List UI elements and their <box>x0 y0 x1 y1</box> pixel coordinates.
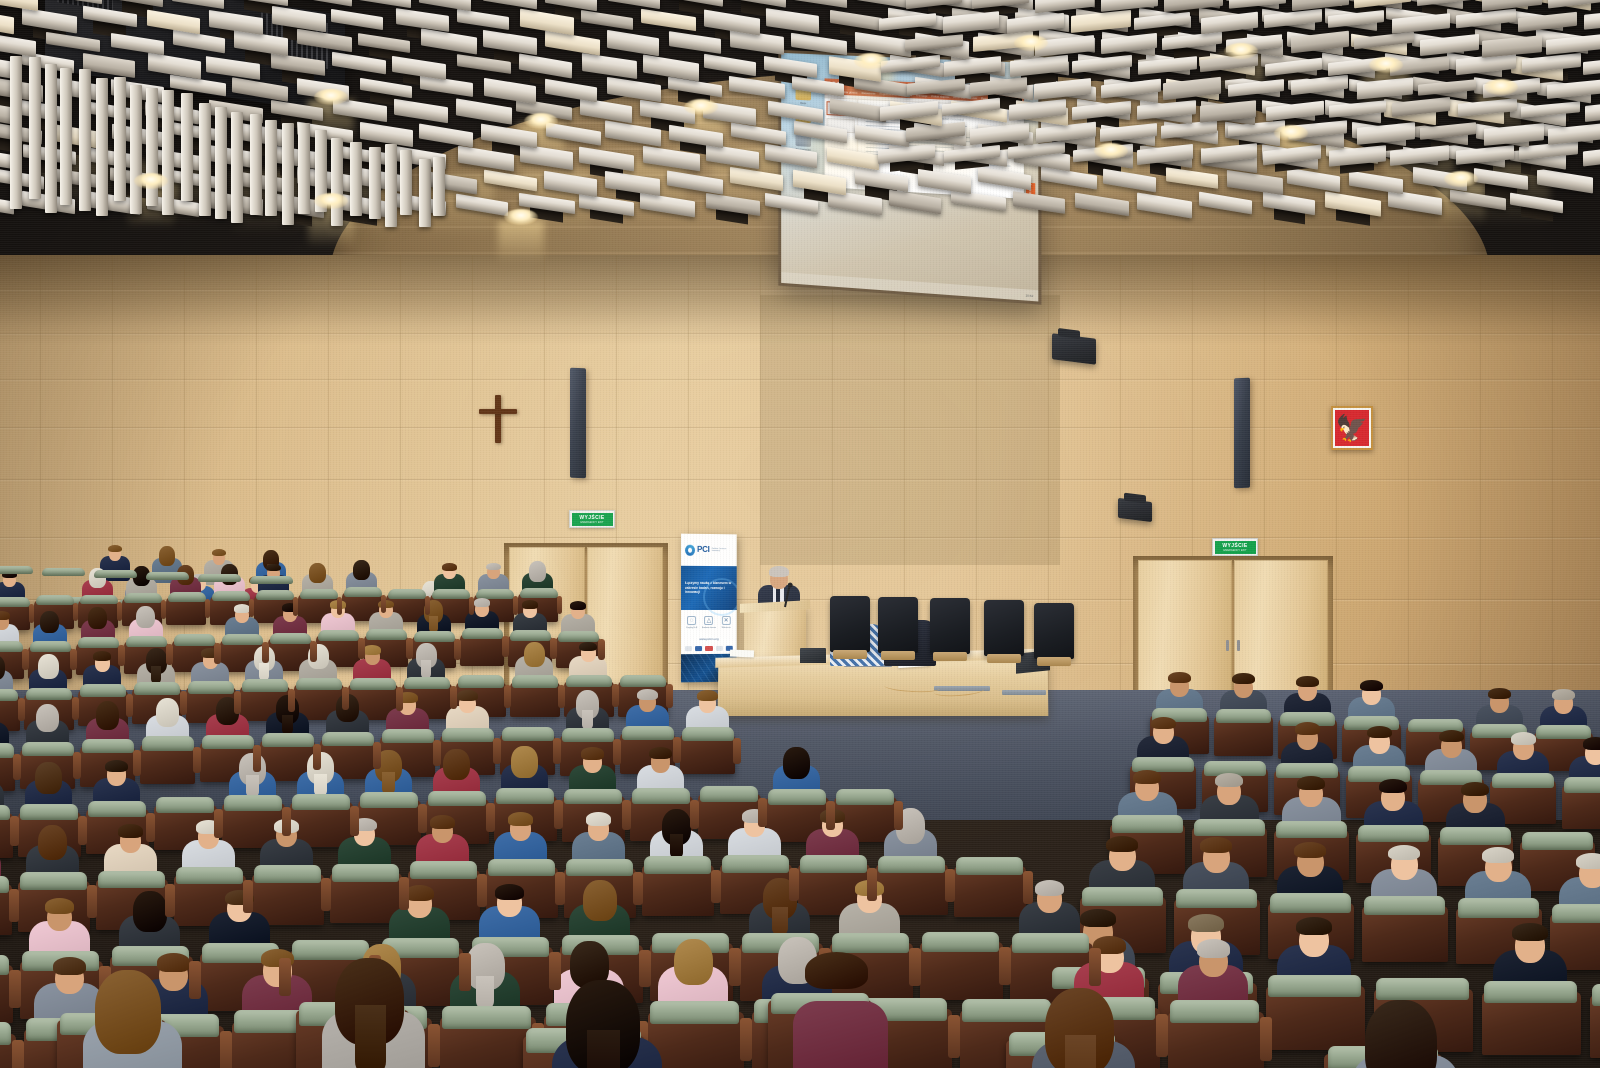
chair-cushion[interactable] <box>1270 893 1351 913</box>
audience-hair <box>442 563 457 571</box>
audience-hair-long <box>38 654 59 679</box>
audience-hair <box>1106 836 1138 852</box>
chair-cushion[interactable] <box>700 786 758 802</box>
ceiling-fin <box>231 112 243 223</box>
downlight-icon <box>1224 43 1258 59</box>
chair-cushion[interactable] <box>564 789 622 805</box>
chair-armrest <box>550 638 556 659</box>
ceiling-fin <box>162 90 174 215</box>
chair-cushion[interactable] <box>1276 821 1347 838</box>
chair-armrest <box>945 869 955 902</box>
audience-seating <box>0 560 1600 1068</box>
ceiling-fin <box>114 77 126 202</box>
downlight-icon <box>684 99 718 115</box>
chair-armrest <box>22 649 28 670</box>
audience-hair <box>570 601 586 610</box>
audience-hair <box>1297 776 1325 790</box>
chair-cushion[interactable] <box>174 634 215 645</box>
chair-cushion[interactable] <box>1358 825 1429 842</box>
crucifix-crossbar <box>479 409 517 414</box>
taskbar-clock: 10:42 <box>1025 293 1033 298</box>
chair-cushion[interactable] <box>0 805 10 821</box>
chair-cushion[interactable] <box>1176 889 1257 909</box>
acoustic-baffle <box>704 54 756 77</box>
audience-hair <box>1439 730 1464 742</box>
acoustic-baffle <box>1583 144 1600 166</box>
chair-cushion[interactable] <box>1112 815 1183 832</box>
audience-hair-long <box>674 939 713 986</box>
chair-armrest <box>18 698 25 721</box>
chair-cushion[interactable] <box>502 727 554 741</box>
chair-armrest <box>555 872 565 905</box>
chair-cushion[interactable] <box>360 792 418 808</box>
audience-hair-long <box>136 606 155 629</box>
audience-hair <box>1367 726 1392 738</box>
chair-armrest <box>428 1024 441 1067</box>
audience-hair <box>45 898 74 914</box>
audience-hair <box>108 545 122 553</box>
chair-cushion[interactable] <box>722 855 789 873</box>
audience-hair <box>1511 732 1536 744</box>
chair-cushion[interactable] <box>256 590 294 600</box>
acoustic-baffle <box>766 8 819 33</box>
chair-cushion[interactable] <box>832 933 909 953</box>
chair-cushion[interactable] <box>146 572 189 581</box>
audience-hair <box>637 689 658 700</box>
audience-hair <box>53 957 87 975</box>
chair-cushion[interactable] <box>510 630 551 641</box>
chair-cushion[interactable] <box>22 742 74 756</box>
chair-cushion[interactable] <box>80 595 118 605</box>
chair-armrest <box>133 750 141 776</box>
audience-hair <box>0 611 10 620</box>
chair-armrest <box>666 684 673 707</box>
wall-seam <box>0 333 1600 334</box>
chair-armrest <box>234 691 241 714</box>
chair-cushion[interactable] <box>512 675 558 687</box>
chair-cushion[interactable] <box>632 788 690 804</box>
audience-hair <box>805 952 868 989</box>
chair-cushion[interactable] <box>922 932 999 952</box>
ceiling-fin <box>400 150 412 216</box>
chair-cushion[interactable] <box>442 728 494 742</box>
chair-cushion[interactable] <box>254 865 321 883</box>
chair-armrest <box>282 807 291 836</box>
chair-armrest <box>673 737 681 763</box>
chair-cushion[interactable] <box>0 566 33 575</box>
audience-hair-long <box>159 546 175 566</box>
acoustic-baffle <box>457 9 509 30</box>
chair-cushion[interactable] <box>212 591 250 601</box>
audience-hair <box>157 953 191 971</box>
audience-hair <box>508 812 534 826</box>
audience-hair <box>1080 909 1116 927</box>
audience-hair <box>1035 880 1064 896</box>
line-array-speaker-left <box>570 368 586 479</box>
chair-cushion[interactable] <box>224 795 282 811</box>
audience-hair <box>1583 737 1600 749</box>
chair-armrest <box>293 597 299 616</box>
chair-cushion[interactable] <box>1194 819 1265 836</box>
chair-armrest <box>826 801 835 830</box>
chair-cushion[interactable] <box>428 791 486 807</box>
chair-armrest <box>502 636 508 657</box>
chair-armrest <box>867 868 877 901</box>
audience-hair <box>266 564 281 572</box>
exit-sign-subtext: EMERGENCY EXIT <box>1223 549 1246 552</box>
audience-ponytail <box>476 976 494 1010</box>
pci-brand-subtitle: Polskie Centrum Innowacji <box>712 548 733 553</box>
audience-hair <box>457 690 478 701</box>
chair-cushion[interactable] <box>0 876 9 894</box>
chair-cushion[interactable] <box>344 587 382 597</box>
chair-cushion[interactable] <box>962 999 1051 1022</box>
chair-armrest <box>73 752 81 778</box>
chair-cushion[interactable] <box>0 955 9 975</box>
audience-hair-long <box>35 762 61 794</box>
chair-cushion[interactable] <box>404 677 450 689</box>
audience-hair-long <box>40 611 59 634</box>
chair-armrest <box>321 878 331 911</box>
chair-cushion[interactable] <box>1484 981 1577 1003</box>
audience-hair <box>1576 853 1600 869</box>
chair-cushion[interactable] <box>382 729 434 743</box>
chair-armrest <box>554 800 563 829</box>
chair-cushion[interactable] <box>202 735 254 749</box>
downlight-icon <box>504 209 538 225</box>
chair-armrest <box>711 870 721 903</box>
chair-armrest <box>381 595 387 614</box>
ceiling-fin <box>60 68 72 205</box>
ceiling-fin <box>350 142 362 216</box>
audience-hair-long <box>156 698 180 727</box>
chair-cushion[interactable] <box>488 859 555 877</box>
chair-cushion[interactable] <box>222 634 263 645</box>
acoustic-baffle <box>854 0 910 8</box>
audience-hair <box>586 812 612 826</box>
chair-cushion[interactable] <box>26 688 72 700</box>
audience-torso <box>793 1001 888 1068</box>
chair-armrest <box>214 643 220 664</box>
chair-cushion[interactable] <box>322 732 374 746</box>
chair-armrest <box>358 638 364 659</box>
chair-armrest <box>9 970 20 1008</box>
chair-cushion[interactable] <box>566 675 612 687</box>
wall-seam <box>0 537 1600 538</box>
chair-armrest <box>504 685 511 708</box>
chair-cushion[interactable] <box>0 1022 11 1045</box>
audience-hair <box>495 884 524 900</box>
chair-cushion[interactable] <box>134 682 180 694</box>
chair-armrest <box>220 1031 233 1068</box>
acoustic-baffle <box>582 52 637 78</box>
chair-armrest <box>249 599 255 618</box>
presidium-chair[interactable] <box>984 600 1024 656</box>
exit-sign-subtext: EMERGENCY EXIT <box>580 521 603 524</box>
audience-hair <box>1296 917 1332 935</box>
chair-cushion[interactable] <box>98 871 165 889</box>
chair-cushion[interactable] <box>562 728 614 742</box>
chair-armrest <box>454 639 460 660</box>
chair-armrest <box>948 1015 961 1058</box>
chair-armrest <box>87 885 97 918</box>
chair-armrest <box>622 800 631 829</box>
chair-armrest <box>189 961 200 999</box>
chair-cushion[interactable] <box>0 597 30 607</box>
chair-armrest <box>161 600 167 619</box>
ceiling-fin <box>250 114 262 215</box>
chair-cushion[interactable] <box>142 736 194 750</box>
downlight-icon <box>1444 171 1478 187</box>
chair-cushion[interactable] <box>1592 984 1600 1006</box>
acoustic-baffle <box>456 98 512 124</box>
acoustic-baffle <box>0 0 38 10</box>
chair-armrest <box>513 596 519 615</box>
acoustic-baffle <box>669 31 721 53</box>
chair-cushion[interactable] <box>520 588 558 598</box>
presidium-chair[interactable] <box>830 596 870 652</box>
polish-coat-of-arms: 🦅 <box>1331 406 1373 450</box>
chair-armrest <box>313 744 321 770</box>
chair-cushion[interactable] <box>458 675 504 687</box>
acoustic-baffle <box>484 78 536 104</box>
chair-cushion[interactable] <box>0 689 18 701</box>
audience-hair <box>1360 680 1382 691</box>
audience-hair <box>1133 770 1161 784</box>
acoustic-baffle <box>0 33 36 58</box>
chair-armrest <box>612 684 619 707</box>
chair-cushion[interactable] <box>36 595 74 605</box>
chair-armrest <box>486 803 495 832</box>
audience-member-foreground <box>560 980 651 1068</box>
acoustic-baffle <box>545 79 597 103</box>
chair-armrest <box>789 868 799 901</box>
chair-armrest <box>909 948 920 986</box>
acoustic-baffle <box>793 0 847 8</box>
acoustic-baffle <box>394 98 448 122</box>
chair-cushion[interactable] <box>78 637 119 648</box>
acoustic-baffle <box>420 75 473 97</box>
chair-armrest <box>1156 1014 1169 1057</box>
chair-cushion[interactable] <box>650 1001 739 1024</box>
audience-hair <box>486 563 501 571</box>
ceiling-fin <box>265 120 277 216</box>
chair-cushion[interactable] <box>0 743 14 757</box>
ceiling-fin <box>282 123 294 224</box>
downlight-icon <box>1094 143 1128 159</box>
downlight-icon <box>1369 57 1403 73</box>
chair-cushion[interactable] <box>462 628 503 639</box>
chair-cushion[interactable] <box>800 855 867 873</box>
audience-hair <box>697 690 718 701</box>
chair-cushion[interactable] <box>414 631 455 642</box>
ceiling-fin <box>10 56 22 210</box>
acoustic-baffle <box>0 8 14 34</box>
audience-hair-long <box>443 749 469 781</box>
chair-cushion[interactable] <box>496 788 554 804</box>
chair-armrest <box>166 644 172 665</box>
chair-cushion[interactable] <box>1364 896 1445 916</box>
chair-armrest <box>549 952 560 990</box>
chair-cushion[interactable] <box>566 859 633 877</box>
chair-cushion[interactable] <box>188 681 234 693</box>
chair-cushion[interactable] <box>1216 709 1271 723</box>
chair-cushion[interactable] <box>88 801 146 817</box>
chair-cushion[interactable] <box>388 589 426 599</box>
chair-cushion[interactable] <box>296 678 342 690</box>
acoustic-baffle <box>608 0 660 9</box>
acoustic-baffle <box>0 53 11 78</box>
chair-cushion[interactable] <box>20 872 87 890</box>
chair-armrest <box>117 602 123 621</box>
audience-hair <box>93 651 111 661</box>
chair-armrest <box>78 816 87 845</box>
audience-hair <box>1294 842 1326 858</box>
chair-cushion[interactable] <box>250 576 293 585</box>
audience-hair <box>430 815 456 829</box>
chair-armrest <box>146 813 155 842</box>
crucifix-icon <box>495 395 501 443</box>
audience-hair-long <box>783 747 809 779</box>
audience-hair-long <box>583 880 617 921</box>
chair-armrest <box>733 738 741 764</box>
chair-cushion[interactable] <box>1440 827 1511 844</box>
chair-cushion[interactable] <box>20 804 78 820</box>
exit-sign-face: WYJŚCIE EMERGENCY EXIT <box>572 513 613 526</box>
chair-armrest <box>126 694 133 717</box>
chair-cushion[interactable] <box>442 1006 531 1029</box>
chair-cushion[interactable] <box>836 789 894 805</box>
chair-cushion[interactable] <box>1082 887 1163 907</box>
audience-hair-long <box>1365 1000 1436 1068</box>
chair-armrest <box>418 804 427 833</box>
audience-hair-long <box>38 825 68 861</box>
audience-hair-long <box>36 704 60 733</box>
audience-hair <box>212 549 226 557</box>
audience-hair <box>474 598 490 607</box>
audience-hair-long <box>511 746 537 778</box>
audience-hair <box>581 747 604 759</box>
audience-hair <box>405 885 434 901</box>
chair-cushion[interactable] <box>1522 832 1593 849</box>
chair-armrest <box>214 809 223 838</box>
pci-brand-initials: PCI <box>697 546 710 554</box>
audience-hair <box>579 642 597 652</box>
chair-cushion[interactable] <box>30 641 71 652</box>
chair-cushion[interactable] <box>768 789 826 805</box>
chair-armrest <box>459 953 470 991</box>
audience-hair <box>118 824 144 838</box>
chair-cushion[interactable] <box>94 570 137 579</box>
chair-cushion[interactable] <box>82 739 134 753</box>
audience-hair <box>1215 773 1243 787</box>
chair-armrest <box>70 649 76 670</box>
chair-cushion[interactable] <box>1564 777 1600 792</box>
chair-armrest <box>165 884 175 917</box>
acoustic-baffle <box>298 0 352 6</box>
audience-hair <box>1512 923 1548 941</box>
chair-cushion[interactable] <box>682 727 734 741</box>
chair-armrest <box>740 1018 753 1061</box>
chair-cushion[interactable] <box>1268 975 1361 997</box>
chair-armrest <box>118 645 124 666</box>
chair-armrest <box>243 880 253 913</box>
chair-cushion[interactable] <box>1170 1000 1259 1023</box>
chair-cushion[interactable] <box>0 641 23 652</box>
chair-cushion[interactable] <box>956 857 1023 875</box>
downlight-icon <box>134 173 168 189</box>
screen-wall-recess <box>760 295 1060 565</box>
audience-hair-long <box>96 701 120 730</box>
chair-cushion[interactable] <box>168 592 206 602</box>
exit-sign-left: WYJŚCIE EMERGENCY EXIT <box>569 510 615 528</box>
chair-cushion[interactable] <box>622 726 674 740</box>
chair-cushion[interactable] <box>270 633 311 644</box>
chair-cushion[interactable] <box>1458 898 1539 918</box>
audience-hair-long <box>353 560 370 580</box>
audience-hair <box>1461 782 1489 796</box>
audience-hair <box>1151 717 1176 729</box>
chair-cushion[interactable] <box>878 856 945 874</box>
chair-cushion[interactable] <box>366 629 407 640</box>
presidium-chair[interactable] <box>878 597 918 653</box>
audience-hair <box>234 604 250 613</box>
chair-armrest <box>999 947 1010 985</box>
chair-cushion[interactable] <box>644 856 711 874</box>
chair-cushion[interactable] <box>126 636 167 647</box>
downlight-icon <box>1484 79 1518 95</box>
wall-speaker-lower-right <box>1118 498 1152 522</box>
ceiling-fin <box>181 93 193 201</box>
chair-armrest <box>1260 1017 1273 1060</box>
ceiling-fin <box>298 123 310 214</box>
chair-armrest <box>73 603 79 622</box>
chair-cushion[interactable] <box>262 733 314 747</box>
ceiling-fin <box>45 64 57 213</box>
presidium-chair[interactable] <box>930 598 970 654</box>
chair-cushion[interactable] <box>42 568 85 577</box>
chair-armrest <box>337 597 343 616</box>
chair-cushion[interactable] <box>332 864 399 882</box>
chair-cushion[interactable] <box>198 574 241 583</box>
chair-armrest <box>493 738 501 764</box>
chair-cushion[interactable] <box>318 630 359 641</box>
chair-cushion[interactable] <box>124 593 162 603</box>
chair-cushion[interactable] <box>156 797 214 813</box>
audience-hair <box>1296 676 1318 687</box>
chair-cushion[interactable] <box>292 794 350 810</box>
presidium-chair[interactable] <box>1034 603 1074 659</box>
audience-member-foreground <box>90 970 171 1068</box>
chair-cushion[interactable] <box>300 589 338 599</box>
ceiling-fin <box>419 159 431 227</box>
acoustic-baffle <box>419 123 473 147</box>
chair-armrest <box>279 958 290 996</box>
audience-ponytail <box>772 907 788 936</box>
chair-cushion[interactable] <box>1376 978 1469 1000</box>
chair-cushion[interactable] <box>80 684 126 696</box>
downlight-icon <box>314 193 348 209</box>
chair-cushion[interactable] <box>350 678 396 690</box>
audience-hair <box>363 645 381 655</box>
audience-member-foreground <box>800 952 878 1067</box>
acoustic-baffle <box>1585 100 1600 122</box>
chair-cushion[interactable] <box>620 675 666 687</box>
chair-armrest <box>558 685 565 708</box>
chair-cushion[interactable] <box>410 861 477 879</box>
chair-cushion[interactable] <box>242 679 288 691</box>
chair-cushion[interactable] <box>176 867 243 885</box>
